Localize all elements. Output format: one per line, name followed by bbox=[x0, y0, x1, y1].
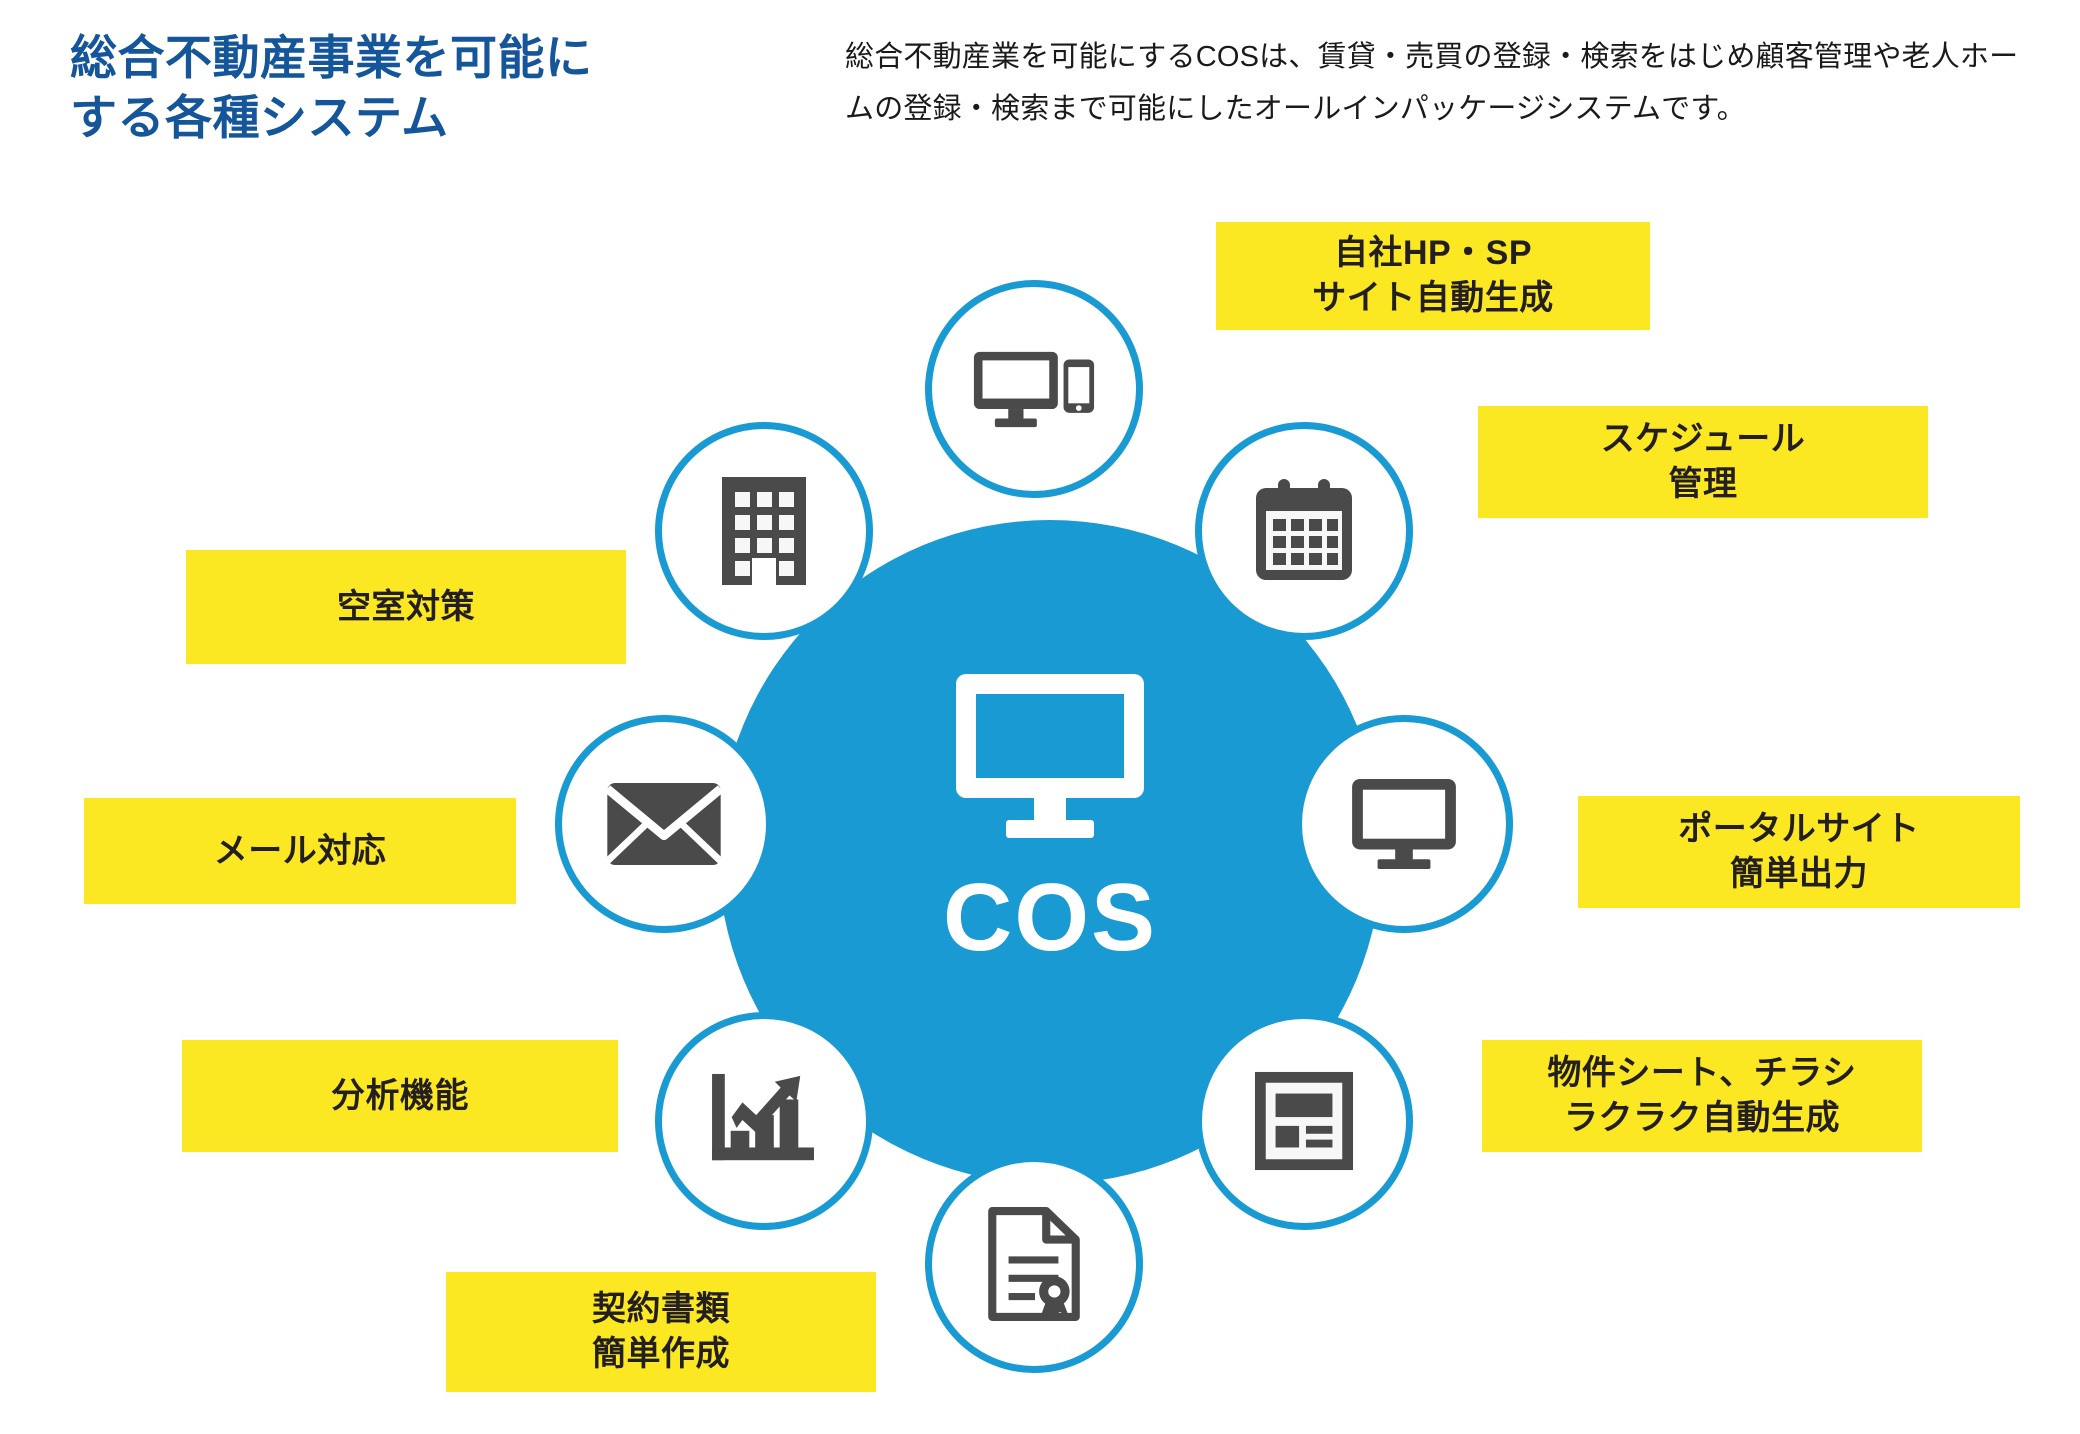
label-vacancy-line-1: 空室対策 bbox=[337, 585, 475, 630]
hub-label: COS bbox=[718, 870, 1382, 966]
label-mail: メール対応 bbox=[84, 798, 516, 904]
label-hp-sp: 自社HP・SP サイト自動生成 bbox=[1216, 222, 1650, 330]
label-schedule-line-1: スケジュール bbox=[1601, 417, 1806, 462]
label-portal-site-line-2: 簡単出力 bbox=[1678, 852, 1920, 897]
label-portal-site-line-1: ポータルサイト bbox=[1678, 807, 1920, 852]
label-vacancy: 空室対策 bbox=[186, 550, 626, 664]
monitor-icon bbox=[1350, 777, 1458, 871]
label-contract: 契約書類 簡単作成 bbox=[446, 1272, 876, 1392]
certificate-document-icon bbox=[987, 1207, 1081, 1321]
building-icon bbox=[719, 474, 809, 588]
intro-paragraph: 総合不動産業を可能にするCOSは、賃貸・売買の登録・検索をはじめ顧客管理や老人ホ… bbox=[845, 32, 2035, 135]
label-portal-site: ポータルサイト 簡単出力 bbox=[1578, 796, 2020, 908]
node-building[interactable] bbox=[655, 422, 873, 640]
label-schedule: スケジュール 管理 bbox=[1478, 406, 1928, 518]
label-contract-line-2: 簡単作成 bbox=[592, 1332, 730, 1377]
node-hp-sp[interactable] bbox=[925, 280, 1143, 498]
label-analysis: 分析機能 bbox=[182, 1040, 618, 1152]
label-mail-line-1: メール対応 bbox=[214, 829, 387, 874]
label-hp-sp-line-2: サイト自動生成 bbox=[1312, 276, 1554, 321]
bar-chart-growth-icon bbox=[710, 1072, 818, 1170]
node-analysis[interactable] bbox=[655, 1012, 873, 1230]
page-title-line-1: 総合不動産事業を可能に bbox=[70, 31, 593, 84]
node-schedule[interactable] bbox=[1195, 422, 1413, 640]
node-contract-document[interactable] bbox=[925, 1155, 1143, 1373]
page-header: 総合不動産事業を可能に する各種システム 総合不動産業を可能にするCOSは、賃貸… bbox=[0, 0, 2080, 210]
calendar-icon bbox=[1252, 479, 1356, 583]
node-property-sheet[interactable] bbox=[1195, 1012, 1413, 1230]
monitor-icon bbox=[950, 668, 1150, 848]
system-diagram: COS bbox=[0, 200, 2080, 1434]
monitor-smartphone-icon bbox=[972, 348, 1096, 430]
node-portal-site[interactable] bbox=[1295, 715, 1513, 933]
label-hp-sp-line-1: 自社HP・SP bbox=[1312, 231, 1554, 276]
label-analysis-line-1: 分析機能 bbox=[331, 1074, 469, 1119]
page-title-line-2: する各種システム bbox=[70, 91, 449, 144]
page-title: 総合不動産事業を可能に する各種システム bbox=[70, 28, 770, 148]
label-property-sheet-line-2: ラクラク自動生成 bbox=[1547, 1096, 1856, 1141]
label-property-sheet-line-1: 物件シート、チラシ bbox=[1547, 1051, 1856, 1096]
label-property-sheet: 物件シート、チラシ ラクラク自動生成 bbox=[1482, 1040, 1922, 1152]
envelope-icon bbox=[605, 781, 723, 867]
label-contract-line-1: 契約書類 bbox=[592, 1287, 730, 1332]
label-schedule-line-2: 管理 bbox=[1601, 462, 1806, 507]
article-layout-icon bbox=[1253, 1070, 1355, 1172]
node-mail[interactable] bbox=[555, 715, 773, 933]
